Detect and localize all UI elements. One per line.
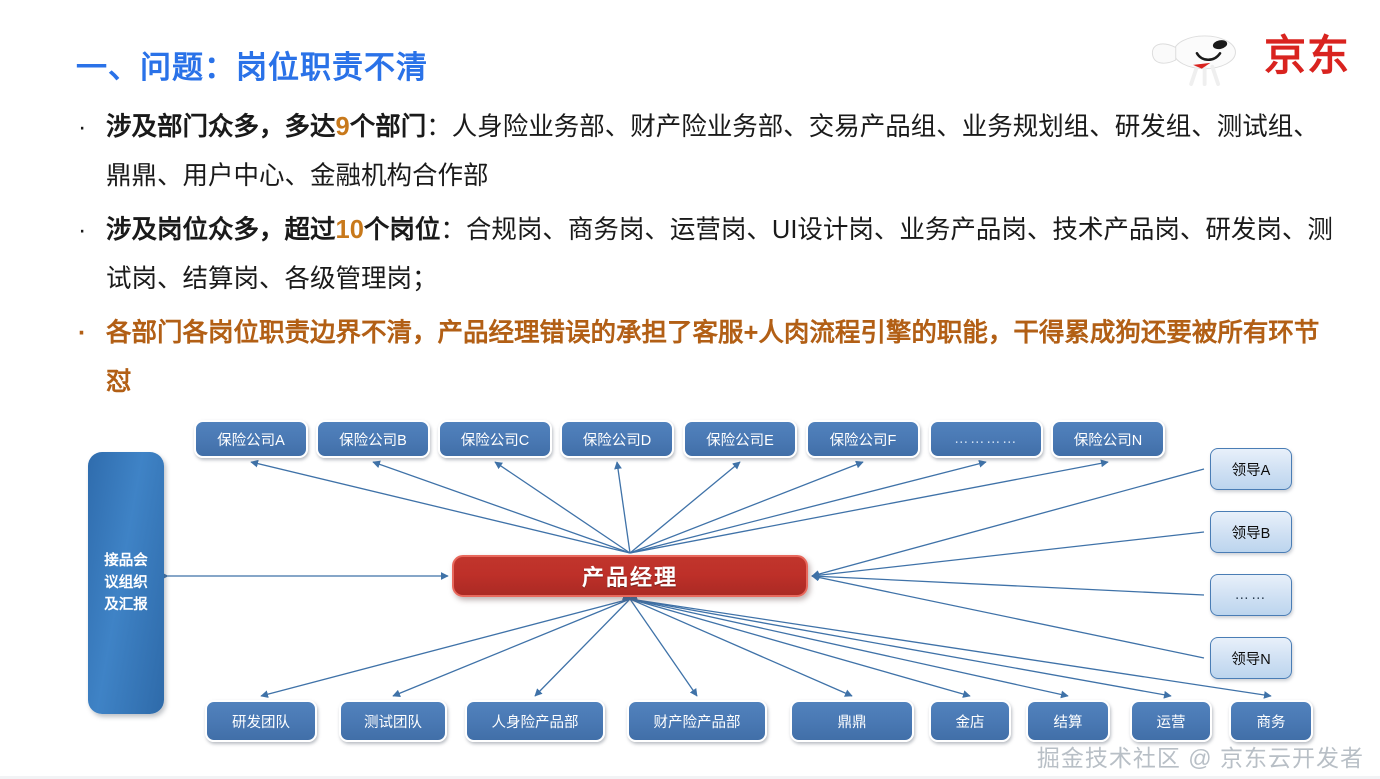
node-leader[interactable]: 领导A	[1210, 448, 1292, 490]
node-insurance-company[interactable]: 保险公司A	[194, 420, 308, 458]
node-label: 商务	[1257, 711, 1286, 732]
node-team[interactable]: 人身险产品部	[465, 700, 605, 742]
list-item: · 各部门各岗位职责边界不清，产品经理错误的承担了客服+人肉流程引擎的职能，干得…	[64, 309, 1334, 407]
node-label: 领导N	[1231, 648, 1270, 669]
brand-name: 京东	[1264, 30, 1350, 82]
node-leader[interactable]: ……	[1210, 574, 1292, 616]
node-label: 研发团队	[232, 711, 290, 732]
node-label: 领导A	[1232, 459, 1271, 480]
node-insurance-company[interactable]: …………	[929, 420, 1043, 458]
node-insurance-company[interactable]: 保险公司N	[1051, 420, 1165, 458]
node-label: 人身险产品部	[492, 711, 579, 732]
node-label: 测试团队	[364, 711, 422, 732]
bullet-lead: 涉及部门众多，多达	[106, 113, 336, 141]
bullet-accent: 10	[336, 216, 364, 244]
node-insurance-company[interactable]: 保险公司D	[560, 420, 674, 458]
node-product-manager[interactable]: 产品经理	[452, 555, 808, 597]
node-leader[interactable]: 领导B	[1210, 511, 1292, 553]
node-insurance-company[interactable]: 保险公司F	[806, 420, 920, 458]
node-label-line: 议组织	[104, 572, 148, 594]
node-team[interactable]: 研发团队	[205, 700, 317, 742]
node-label: …………	[954, 431, 1018, 447]
node-leader[interactable]: 领导N	[1210, 637, 1292, 679]
node-team[interactable]: 财产险产品部	[627, 700, 767, 742]
node-team[interactable]: 商务	[1229, 700, 1313, 742]
bullet-lead-tail: 个部门	[350, 113, 427, 141]
list-item: · 涉及部门众多，多达9个部门：人身险业务部、财产险业务部、交易产品组、业务规划…	[64, 103, 1334, 201]
node-insurance-company[interactable]: 保险公司B	[316, 420, 430, 458]
node-label: 领导B	[1232, 522, 1271, 543]
node-team[interactable]: 运营	[1130, 700, 1212, 742]
node-label: ……	[1235, 587, 1268, 603]
node-label: 结算	[1054, 711, 1083, 732]
node-team[interactable]: 测试团队	[339, 700, 447, 742]
node-insurance-company[interactable]: 保险公司E	[683, 420, 797, 458]
node-team[interactable]: 结算	[1026, 700, 1110, 742]
node-label: 运营	[1157, 711, 1186, 732]
node-label: 金店	[956, 711, 985, 732]
node-label-line: 接品会	[104, 550, 148, 572]
node-meeting-organizer[interactable]: 接品会 议组织 及汇报	[88, 452, 164, 714]
node-label: 保险公司A	[217, 429, 285, 450]
node-label: 保险公司E	[706, 429, 774, 450]
node-label: 保险公司F	[830, 429, 897, 450]
node-insurance-company[interactable]: 保险公司C	[438, 420, 552, 458]
bullet-list: · 涉及部门众多，多达9个部门：人身险业务部、财产险业务部、交易产品组、业务规划…	[64, 103, 1334, 412]
page-title: 一、问题：岗位职责不清	[76, 42, 428, 87]
relationship-diagram: 接品会 议组织 及汇报 产品经理 保险公司A保险公司B保险公司C保险公司D保险公…	[0, 404, 1380, 779]
node-label: 保险公司D	[583, 429, 651, 450]
bullet-marker: ·	[78, 309, 86, 358]
watermark: 掘金技术社区 @ 京东云开发者	[1037, 739, 1364, 773]
node-label: 保险公司B	[339, 429, 407, 450]
bullet-accent: 9	[336, 113, 350, 141]
bullet-body: 各部门各岗位职责边界不清，产品经理错误的承担了客服+人肉流程引擎的职能，干得累成…	[106, 319, 1319, 396]
bullet-marker: ·	[78, 103, 86, 152]
jd-dog-logo-icon	[1146, 34, 1244, 86]
node-label: 保险公司N	[1074, 429, 1142, 450]
bullet-marker: ·	[78, 206, 86, 255]
jd-brand-logo: 京东	[1140, 28, 1350, 90]
bullet-lead-tail: 个岗位	[364, 216, 441, 244]
node-label: 财产险产品部	[654, 711, 741, 732]
bullet-lead: 涉及岗位众多，超过	[106, 216, 336, 244]
node-team[interactable]: 鼎鼎	[790, 700, 914, 742]
list-item: · 涉及岗位众多，超过10个岗位：合规岗、商务岗、运营岗、UI设计岗、业务产品岗…	[64, 206, 1334, 304]
node-label: 保险公司C	[461, 429, 529, 450]
slide-canvas: 一、问题：岗位职责不清 京东 · 涉及部门众多，多达9个部门：人身险业务部、财产…	[0, 0, 1380, 779]
node-label-line: 及汇报	[104, 594, 148, 616]
node-label: 鼎鼎	[838, 711, 867, 732]
node-team[interactable]: 金店	[929, 700, 1011, 742]
